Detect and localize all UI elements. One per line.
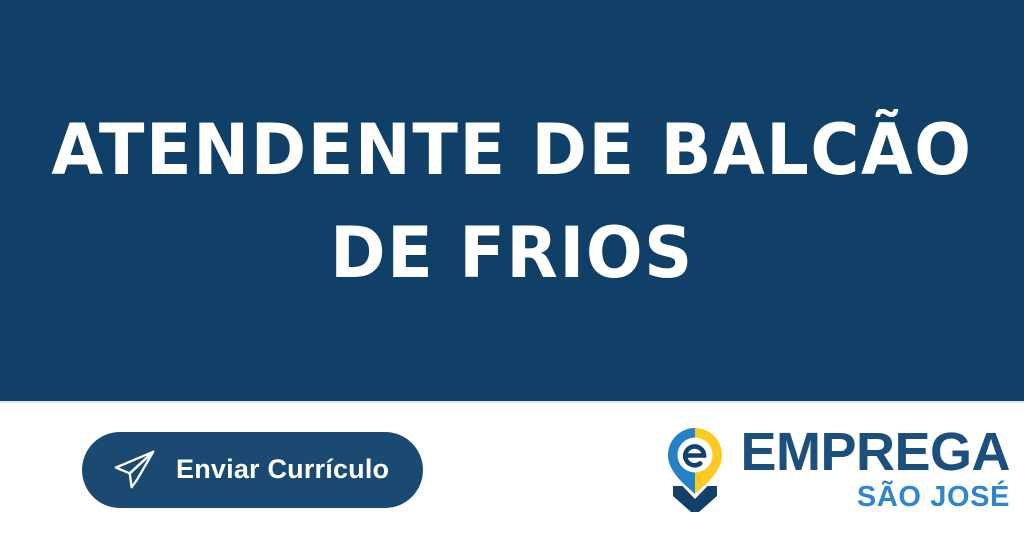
brand-name: EMPREGA <box>740 427 1010 479</box>
footer-bar: Enviar Currículo <box>0 403 1024 536</box>
send-resume-button[interactable]: Enviar Currículo <box>82 432 423 508</box>
brand-wordmark: EMPREGA SÃO JOSÉ <box>740 427 1010 512</box>
map-pin-e-icon <box>664 426 726 514</box>
brand-locality: SÃO JOSÉ <box>857 483 1010 512</box>
send-resume-label: Enviar Currículo <box>176 454 389 485</box>
brand-logo[interactable]: EMPREGA SÃO JOSÉ <box>664 426 1024 514</box>
hero-banner: ATENDENTE DE BALCÃO DE FRIOS <box>0 0 1024 403</box>
paper-plane-send-icon <box>112 447 158 493</box>
job-posting-card: ATENDENTE DE BALCÃO DE FRIOS Enviar Curr… <box>0 0 1024 536</box>
page-title: ATENDENTE DE BALCÃO DE FRIOS <box>46 99 979 305</box>
